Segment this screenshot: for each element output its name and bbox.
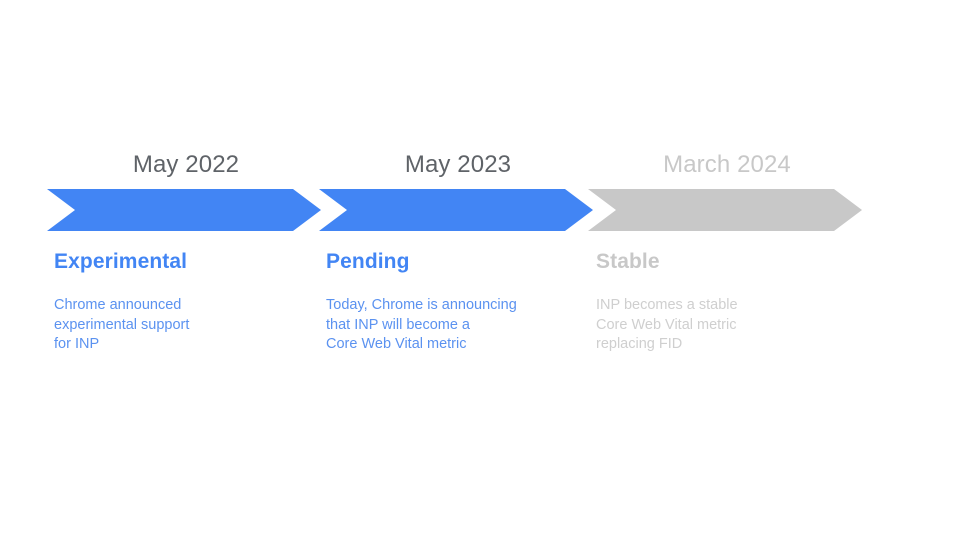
stage-date-label: May 2023 (319, 148, 597, 182)
stage-arrow-container (319, 189, 597, 231)
description-line: Today, Chrome is announcing (326, 296, 597, 316)
stage-description: Today, Chrome is announcing that INP wil… (326, 296, 597, 355)
stage-arrow-container (588, 189, 866, 231)
stage-date-label: May 2022 (47, 148, 325, 182)
timeline-stage-stable: March 2024 Stable INP becomes a stable C… (588, 148, 866, 355)
description-line: for INP (54, 335, 325, 355)
stage-heading: Experimental (54, 249, 325, 275)
stage-description: Chrome announced experimental support fo… (54, 296, 325, 355)
description-line: experimental support (54, 316, 325, 336)
description-line: that INP will become a (326, 316, 597, 336)
chevron-arrow-icon (319, 189, 593, 231)
description-line: Chrome announced (54, 296, 325, 316)
inp-timeline: May 2022 Experimental Chrome announced e… (0, 0, 960, 540)
description-line: INP becomes a stable (596, 296, 866, 316)
description-line: Core Web Vital metric (596, 316, 866, 336)
description-line: replacing FID (596, 335, 866, 355)
stage-heading: Pending (326, 249, 597, 275)
stage-heading: Stable (596, 249, 866, 275)
chevron-arrow-icon (588, 189, 862, 231)
stage-date-label: March 2024 (588, 148, 866, 182)
chevron-arrow-icon (47, 189, 321, 231)
timeline-stage-experimental: May 2022 Experimental Chrome announced e… (47, 148, 325, 355)
stage-description: INP becomes a stable Core Web Vital metr… (596, 296, 866, 355)
description-line: Core Web Vital metric (326, 335, 597, 355)
timeline-stage-pending: May 2023 Pending Today, Chrome is announ… (319, 148, 597, 355)
stage-arrow-container (47, 189, 325, 231)
